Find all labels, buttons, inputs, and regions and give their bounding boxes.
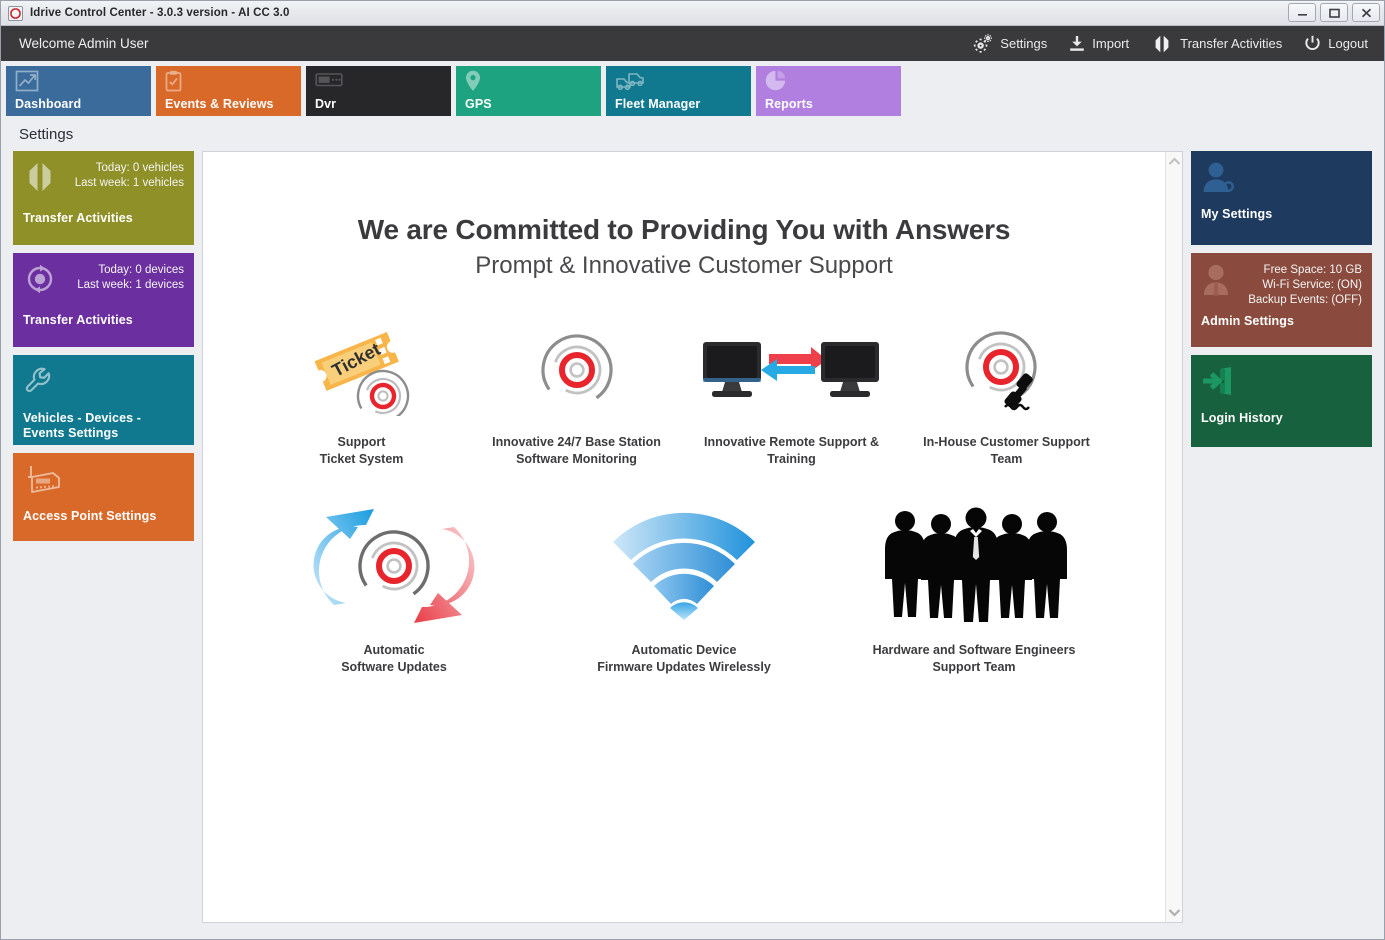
feature-base-station-monitoring: Innovative 24/7 Base Station Software Mo…	[469, 322, 684, 468]
hero-section: We are Committed to Providing You with A…	[203, 152, 1165, 280]
router-icon	[23, 463, 63, 495]
tile-transfer-activities-vehicles[interactable]: Today: 0 vehicles Last week: 1 vehicles …	[13, 151, 194, 245]
left-sidebar: Today: 0 vehicles Last week: 1 vehicles …	[13, 151, 194, 923]
feature-label: Hardware and Software Engineers Support …	[873, 642, 1076, 676]
right-sidebar: My Settings Free Space: 10 GB Wi-Fi Se	[1191, 151, 1372, 923]
tile-label: Access Point Settings	[23, 509, 184, 524]
close-button[interactable]	[1352, 3, 1380, 22]
tile-label: Vehicles - Devices - Events Settings	[23, 411, 184, 441]
feature-in-house-support-team: In-House Customer Support Team	[899, 322, 1114, 468]
tile-stat-line: Last week: 1 vehicles	[75, 176, 184, 191]
tile-stats: Today: 0 devices Last week: 1 devices	[77, 263, 184, 293]
team-silhouette-icon	[879, 502, 1069, 626]
maximize-button[interactable]	[1320, 3, 1348, 22]
feature-automatic-firmware-updates: Automatic Device Firmware Updates Wirele…	[539, 502, 829, 676]
tile-login-history[interactable]: Login History	[1191, 355, 1372, 447]
tab-events-reviews-label: Events & Reviews	[165, 97, 274, 111]
remote-monitors-icon	[699, 322, 884, 418]
sync-circle-icon	[23, 263, 57, 295]
auto-update-target-icon	[304, 502, 484, 626]
tile-label: My Settings	[1201, 207, 1362, 222]
tile-stat-line: Last week: 1 devices	[77, 278, 184, 293]
pie-chart-icon	[765, 70, 901, 92]
tile-admin-settings[interactable]: Free Space: 10 GB Wi-Fi Service: (ON) Ba…	[1191, 253, 1372, 347]
tab-dvr-label: Dvr	[315, 97, 336, 111]
base-station-target-icon	[537, 322, 617, 418]
tab-events-reviews[interactable]: Events & Reviews	[156, 66, 301, 116]
vertical-scrollbar[interactable]	[1165, 152, 1182, 922]
tile-stat-line: Today: 0 vehicles	[75, 161, 184, 176]
chart-trend-icon	[15, 70, 151, 92]
wifi-signal-icon	[609, 502, 759, 626]
clipboard-check-icon	[165, 70, 301, 92]
window-controls	[1288, 3, 1380, 22]
tab-reports-label: Reports	[765, 97, 813, 111]
scroll-down-icon[interactable]	[1168, 908, 1181, 917]
support-phone-target-icon	[959, 322, 1055, 418]
header-transfer-label: Transfer Activities	[1180, 36, 1282, 51]
gears-icon	[973, 34, 993, 53]
application-window: Idrive Control Center - 3.0.3 version - …	[0, 0, 1385, 940]
tile-stat-line: Today: 0 devices	[77, 263, 184, 278]
hero-subheading: Prompt & Innovative Customer Support	[203, 252, 1165, 280]
tab-dashboard-label: Dashboard	[15, 97, 81, 111]
header-logout-button[interactable]: Logout	[1304, 35, 1368, 52]
tab-dashboard[interactable]: Dashboard	[6, 66, 151, 116]
feature-engineers-support-team: Hardware and Software Engineers Support …	[829, 502, 1119, 676]
map-pin-icon	[465, 70, 601, 92]
tile-stat-line: Free Space: 10 GB	[1248, 263, 1362, 278]
header-settings-button[interactable]: Settings	[973, 34, 1047, 53]
header-transfer-activities-button[interactable]: Transfer Activities	[1151, 35, 1282, 53]
tab-fleet-manager[interactable]: Fleet Manager	[606, 66, 751, 116]
header-import-button[interactable]: Import	[1069, 35, 1129, 52]
transfer-arrows-icon	[1151, 35, 1173, 53]
page-body: Today: 0 vehicles Last week: 1 vehicles …	[1, 151, 1384, 939]
wrench-icon	[23, 365, 57, 397]
page-title: Settings	[1, 116, 1384, 151]
tile-transfer-activities-devices[interactable]: Today: 0 devices Last week: 1 devices Tr…	[13, 253, 194, 347]
vehicles-icon	[615, 70, 751, 92]
hero-heading: We are Committed to Providing You with A…	[203, 214, 1165, 246]
title-bar: Idrive Control Center - 3.0.3 version - …	[1, 1, 1384, 26]
app-icon	[8, 6, 23, 21]
tile-label: Login History	[1201, 411, 1362, 426]
header-logout-label: Logout	[1328, 36, 1368, 51]
content-panel: We are Committed to Providing You with A…	[202, 151, 1183, 923]
tile-stats: Free Space: 10 GB Wi-Fi Service: (ON) Ba…	[1248, 263, 1362, 308]
dvr-device-icon	[315, 70, 451, 92]
tab-dvr[interactable]: Dvr	[306, 66, 451, 116]
minimize-button[interactable]	[1288, 3, 1316, 22]
window-title: Idrive Control Center - 3.0.3 version - …	[30, 7, 289, 19]
user-gear-icon	[1201, 161, 1237, 195]
tab-gps[interactable]: GPS	[456, 66, 601, 116]
header-actions: Settings Import	[973, 34, 1368, 53]
header-import-label: Import	[1092, 36, 1129, 51]
welcome-message: Welcome Admin User	[19, 36, 149, 51]
features-row-2: Automatic Software Updates	[233, 502, 1135, 676]
transfer-arrows-icon	[23, 161, 57, 193]
scroll-up-icon[interactable]	[1168, 157, 1181, 166]
login-arrow-icon	[1201, 365, 1235, 397]
tile-my-settings[interactable]: My Settings	[1191, 151, 1372, 245]
feature-label: Innovative 24/7 Base Station Software Mo…	[492, 434, 661, 468]
feature-label: Support Ticket System	[320, 434, 404, 468]
feature-label: Innovative Remote Support & Training	[704, 434, 879, 468]
tile-stat-line: Wi-Fi Service: (ON)	[1248, 278, 1362, 293]
header-settings-label: Settings	[1000, 36, 1047, 51]
tab-gps-label: GPS	[465, 97, 492, 111]
feature-label: Automatic Software Updates	[341, 642, 447, 676]
tile-label: Transfer Activities	[23, 313, 184, 328]
tile-label: Admin Settings	[1201, 314, 1362, 329]
tile-label: Transfer Activities	[23, 211, 184, 226]
feature-label: Automatic Device Firmware Updates Wirele…	[597, 642, 771, 676]
tab-reports[interactable]: Reports	[756, 66, 901, 116]
app-header: Welcome Admin User	[1, 26, 1384, 61]
features-grid: Ticket Suppor	[203, 322, 1165, 676]
main-navigation-tabs: Dashboard Events & Reviews	[1, 61, 1384, 116]
feature-label: In-House Customer Support Team	[923, 434, 1090, 468]
tile-access-point-settings[interactable]: Access Point Settings	[13, 453, 194, 541]
feature-support-ticket-system: Ticket Suppor	[254, 322, 469, 468]
content-scroll-area: We are Committed to Providing You with A…	[203, 152, 1165, 922]
tab-fleet-manager-label: Fleet Manager	[615, 97, 700, 111]
power-icon	[1304, 35, 1321, 52]
tile-stat-line: Backup Events: (OFF)	[1248, 293, 1362, 308]
feature-automatic-software-updates: Automatic Software Updates	[249, 502, 539, 676]
tile-stats: Today: 0 vehicles Last week: 1 vehicles	[75, 161, 184, 191]
feature-remote-support-training: Innovative Remote Support & Training	[684, 322, 899, 468]
tile-vehicles-devices-events-settings[interactable]: Vehicles - Devices - Events Settings	[13, 355, 194, 445]
features-row-1: Ticket Suppor	[233, 322, 1135, 468]
support-ticket-icon: Ticket	[309, 322, 415, 418]
download-icon	[1069, 35, 1085, 52]
admin-user-icon	[1201, 263, 1233, 297]
